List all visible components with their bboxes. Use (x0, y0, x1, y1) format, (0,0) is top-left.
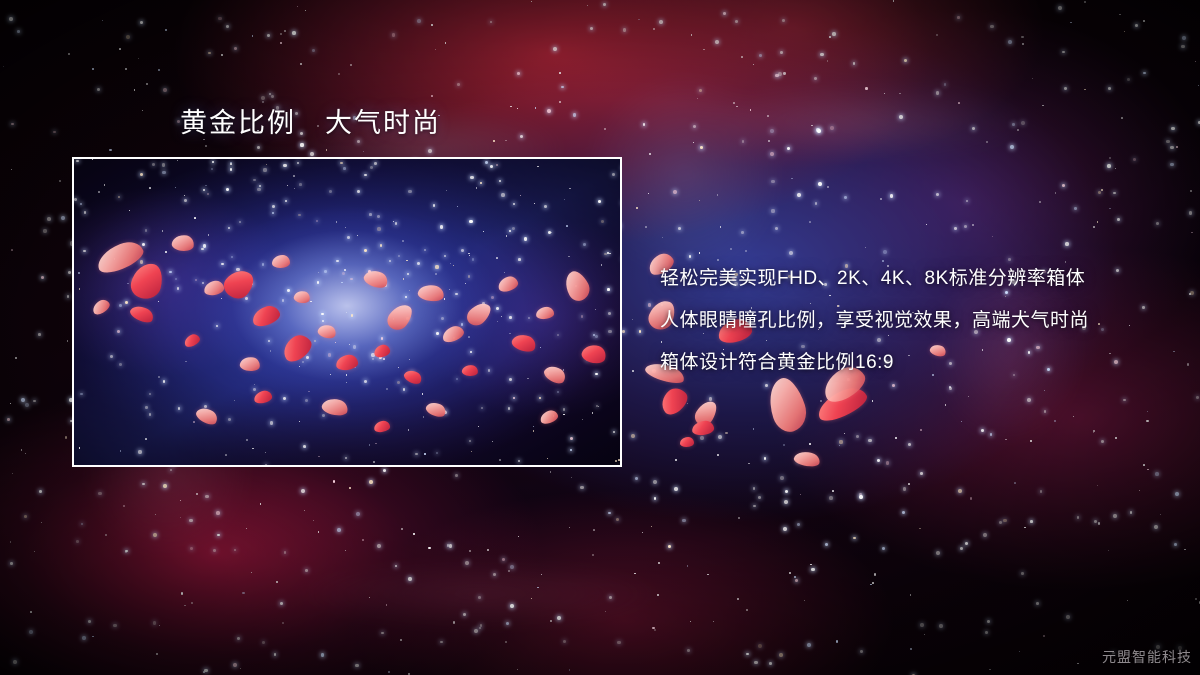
petal (691, 420, 714, 436)
petal (813, 382, 870, 425)
framed-image-nebula (74, 159, 620, 465)
body-line-3: 箱体设计符合黄金比例16:9 (660, 342, 1089, 384)
body-text-block: 轻松完美实现FHD、2K、4K、8K标准分辨率箱体 人体眼睛瞳孔比例，享受视觉效… (660, 258, 1089, 384)
petal (793, 449, 821, 468)
petal (656, 384, 692, 419)
framed-image (72, 157, 622, 467)
petal (680, 437, 694, 447)
watermark: 元盟智能科技 (1102, 647, 1192, 667)
petal (692, 397, 721, 429)
body-line-1: 轻松完美实现FHD、2K、4K、8K标准分辨率箱体 (660, 258, 1089, 300)
slide-canvas: 黄金比例 大气时尚 轻松完美实现FHD、2K、4K、8K标准分辨率箱体 人体眼睛… (0, 0, 1200, 675)
page-title: 黄金比例 大气时尚 (180, 101, 441, 140)
body-line-2: 人体眼睛瞳孔比例，享受视觉效果，高端大气时尚 (660, 300, 1089, 342)
